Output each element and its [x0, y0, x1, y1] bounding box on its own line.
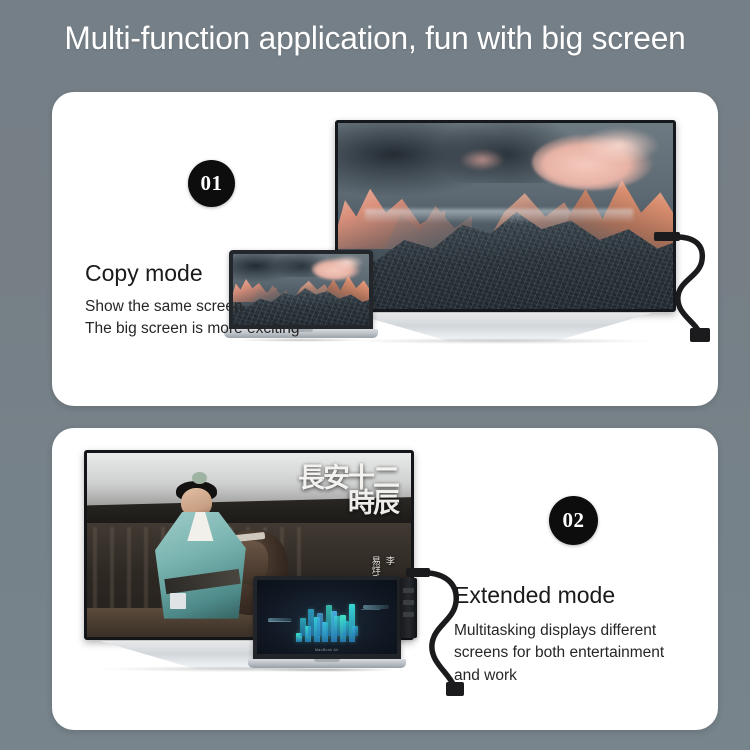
mode-title-copy: Copy mode	[85, 260, 203, 287]
desc-line-1: Show the same screen	[85, 296, 300, 318]
cable-plug-bottom	[690, 328, 710, 342]
cable-wire	[429, 573, 456, 686]
tv-stand	[352, 313, 652, 341]
chart-bar	[317, 613, 323, 636]
snow-band	[365, 209, 633, 224]
drama-title-text: 長安十二時辰	[288, 466, 398, 554]
chart-bar	[334, 616, 340, 637]
laptop-shadow	[258, 668, 396, 672]
laptop: MacBook Air	[248, 576, 406, 676]
character-tablet	[170, 593, 186, 610]
chart-bar	[308, 609, 314, 636]
feature-card-extended-mode[interactable]: 長安十二時辰 李 易烊千璽 TV MacBook Air	[52, 428, 718, 730]
cable-wire	[678, 237, 702, 330]
tv-shadow	[352, 338, 652, 344]
laptop-notch	[314, 659, 340, 662]
page-title: Multi-function application, fun with big…	[4, 20, 747, 57]
chart-bar	[352, 626, 358, 636]
desc-line-2: The big screen is more exciting	[85, 318, 300, 340]
mountain-photo: TV	[338, 123, 673, 309]
laptop-screen: MacBook Air	[257, 580, 397, 654]
cable-plug-top	[654, 232, 680, 241]
chart-bar	[349, 604, 355, 642]
hdmi-cable	[652, 232, 718, 344]
step-number-badge-01: 01	[188, 160, 235, 207]
desc-line-2: screens for both entertainment	[454, 642, 706, 664]
laptop-lid: MacBook Air	[253, 576, 401, 660]
feature-card-copy-mode[interactable]: TV	[52, 92, 718, 406]
mode-title-extended: Extended mode	[454, 582, 615, 609]
pink-cloud-2	[331, 255, 364, 269]
chart-leader-line-right	[361, 609, 381, 610]
desc-line-1: Multitasking displays different	[454, 620, 706, 642]
bar-chart	[296, 599, 363, 642]
step-number-badge-02: 02	[549, 496, 598, 545]
card1-artwork: TV	[52, 92, 718, 406]
pink-cloud-2	[579, 127, 659, 164]
laptop-brand-label: MacBook Air	[315, 648, 339, 652]
chart-bar	[300, 618, 306, 637]
chart-bar	[343, 621, 349, 636]
mode-description-extended: Multitasking displays different screens …	[454, 620, 706, 687]
desc-line-3: and work	[454, 665, 706, 687]
chart-label-left	[268, 618, 292, 622]
mode-description-copy: Show the same screen The big screen is m…	[85, 296, 300, 341]
tv-screen: TV	[335, 120, 676, 312]
chart-bar	[326, 605, 332, 637]
